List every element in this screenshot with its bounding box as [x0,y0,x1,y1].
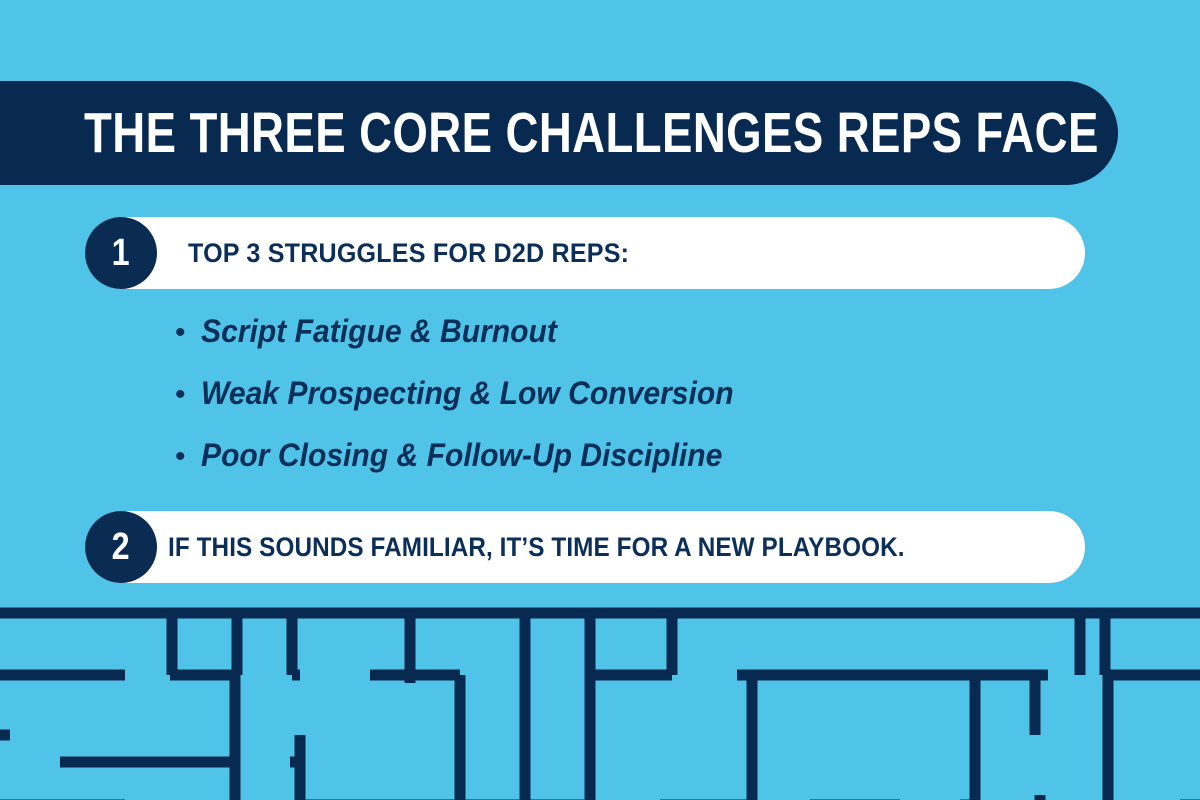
step-badge-1: 1 [85,217,157,289]
row-label-1: TOP 3 STRUGGLES FOR D2D REPS: [188,217,629,289]
list-item: • Poor Closing & Follow-Up Discipline [175,439,995,501]
step-badge-2: 2 [85,511,157,583]
maze-graphic [0,605,1200,800]
list-item-label: Poor Closing & Follow-Up Discipline [201,439,722,471]
row-label-2: IF THIS SOUNDS FAMILIAR, IT’S TIME FOR A… [168,511,905,583]
list-item: • Script Fatigue & Burnout [175,315,995,377]
page-title: THE THREE CORE CHALLENGES REPS FACE [84,105,1099,162]
bullet-dot-icon: • [175,442,201,472]
list-item-label: Script Fatigue & Burnout [201,315,557,347]
list-item: • Weak Prospecting & Low Conversion [175,377,995,439]
step-badge-number-1: 1 [112,234,130,272]
title-banner: THE THREE CORE CHALLENGES REPS FACE [0,81,1118,185]
maze-walls [0,613,1200,800]
numbered-row-2: 2 IF THIS SOUNDS FAMILIAR, IT’S TIME FOR… [85,511,1085,583]
bullet-dot-icon: • [175,318,201,348]
bullet-dot-icon: • [175,380,201,410]
struggles-list: • Script Fatigue & Burnout • Weak Prospe… [175,315,995,501]
numbered-row-1: 1 TOP 3 STRUGGLES FOR D2D REPS: [85,217,1085,289]
step-badge-number-2: 2 [112,528,130,566]
list-item-label: Weak Prospecting & Low Conversion [201,377,734,409]
